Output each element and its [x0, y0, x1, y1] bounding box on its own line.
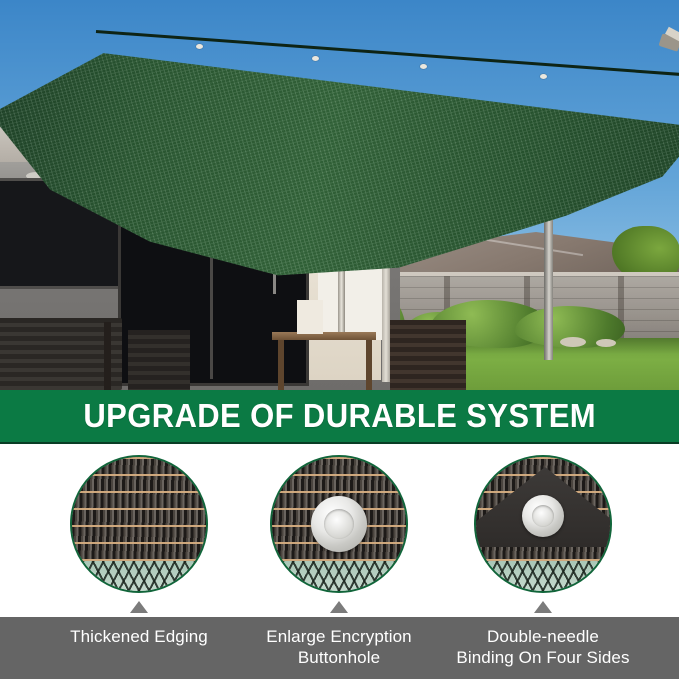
caption-line: Thickened Edging [24, 626, 254, 647]
patio-chair [128, 330, 190, 390]
caption-thickened-edging: Thickened Edging [24, 626, 254, 647]
feature-double-needle-binding [470, 455, 616, 617]
pointer-triangle-icon [534, 601, 552, 613]
feature-circle-image [270, 455, 408, 593]
caption-line: Double-needle [428, 626, 658, 647]
garden-rock [560, 337, 586, 347]
table-leg [278, 340, 284, 390]
caption-encryption-buttonhole: Enlarge Encryption Buttonhole [224, 626, 454, 668]
caption-double-needle-binding: Double-needle Binding On Four Sides [428, 626, 658, 668]
pointer-triangle-icon [330, 601, 348, 613]
product-photo [0, 0, 679, 392]
sail-grommet [540, 74, 547, 79]
sail-grommet [420, 64, 427, 69]
table-leg [366, 340, 372, 390]
patio-table [272, 332, 376, 340]
patio-object [297, 300, 323, 334]
caption-line: Enlarge Encryption [224, 626, 454, 647]
pointer-triangle-icon [130, 601, 148, 613]
headline-banner: UPGRADE OF DURABLE SYSTEM [0, 390, 679, 444]
bench-armrest [104, 322, 111, 390]
product-feature-image: UPGRADE OF DURABLE SYSTEM [0, 0, 679, 679]
grommet-icon [522, 495, 564, 537]
grommet-inner-ring [324, 509, 354, 539]
mesh-fabric-texture [72, 457, 206, 561]
sail-grommet [312, 56, 319, 61]
mesh-fringe-texture [476, 561, 610, 593]
patio-chair [390, 320, 466, 390]
grommet-icon [311, 496, 367, 552]
feature-circle-image [474, 455, 612, 593]
mesh-fringe-texture [72, 561, 206, 593]
caption-line: Binding On Four Sides [428, 647, 658, 668]
feature-thickened-edging [66, 455, 212, 617]
caption-bar: Thickened Edging Enlarge Encryption Butt… [0, 617, 679, 679]
sail-grommet [196, 44, 203, 49]
caption-line: Buttonhole [224, 647, 454, 668]
feature-circle-image [70, 455, 208, 593]
headline-text: UPGRADE OF DURABLE SYSTEM [83, 397, 596, 435]
feature-row [0, 444, 679, 617]
grommet-inner-ring [532, 505, 554, 527]
mesh-fringe-texture [272, 561, 406, 593]
garden-rock [596, 339, 616, 347]
feature-encryption-buttonhole [266, 455, 412, 617]
